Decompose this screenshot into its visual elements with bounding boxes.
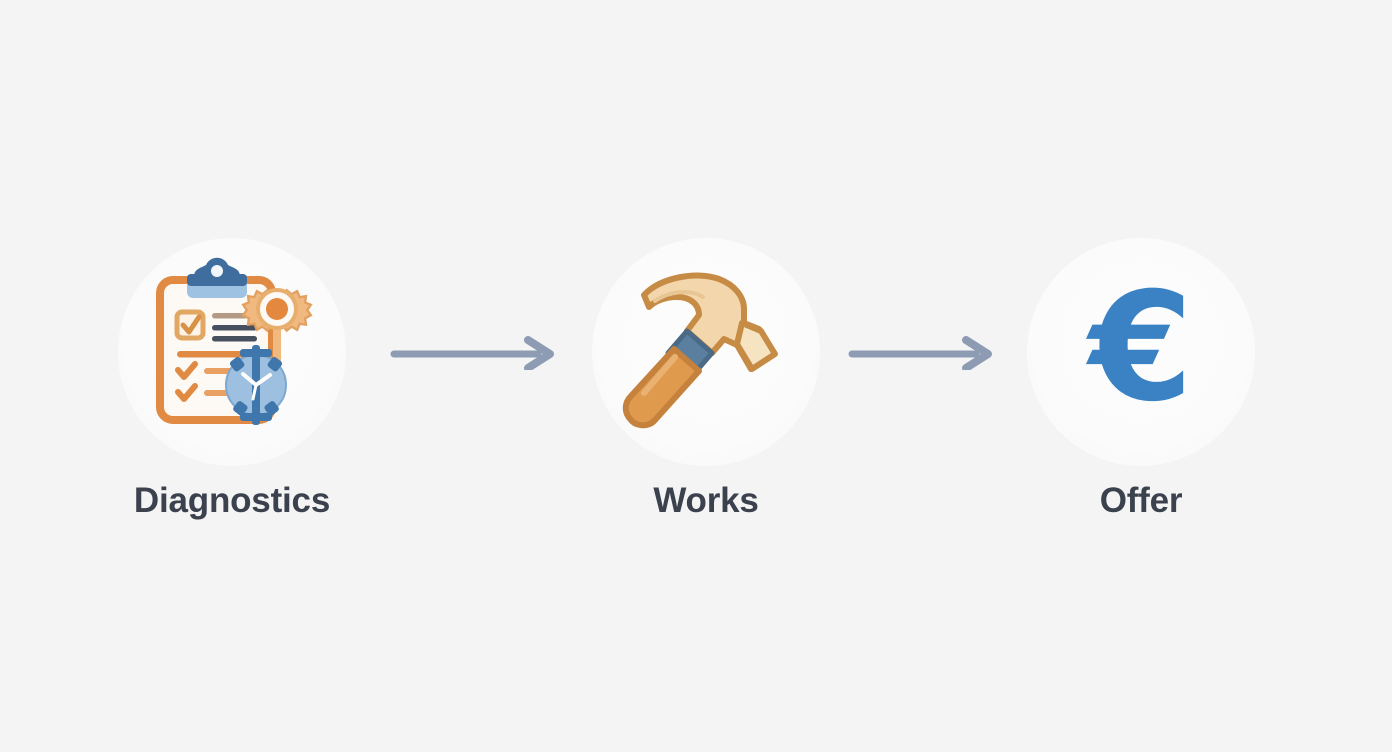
- process-flow-diagram: Diagnostics Works €: [0, 0, 1392, 752]
- clipboard-checklist-gear-icon: [118, 238, 346, 466]
- step-label-diagnostics: Diagnostics: [78, 466, 386, 536]
- step-label-offer: Offer: [987, 466, 1295, 536]
- arrow-right-icon-diagnostics-to-works: [390, 336, 560, 370]
- flow-step-offer[interactable]: € Offer: [1027, 238, 1255, 538]
- arrow-right-icon-works-to-offer: [848, 336, 1018, 370]
- step-label-works: Works: [552, 466, 860, 536]
- flow-step-diagnostics[interactable]: Diagnostics: [118, 238, 346, 538]
- flow-step-works[interactable]: Works: [592, 238, 820, 538]
- euro-currency-icon: €: [1027, 238, 1255, 466]
- hammer-icon: [592, 238, 820, 466]
- euro-sign-glyph: €: [1089, 273, 1193, 423]
